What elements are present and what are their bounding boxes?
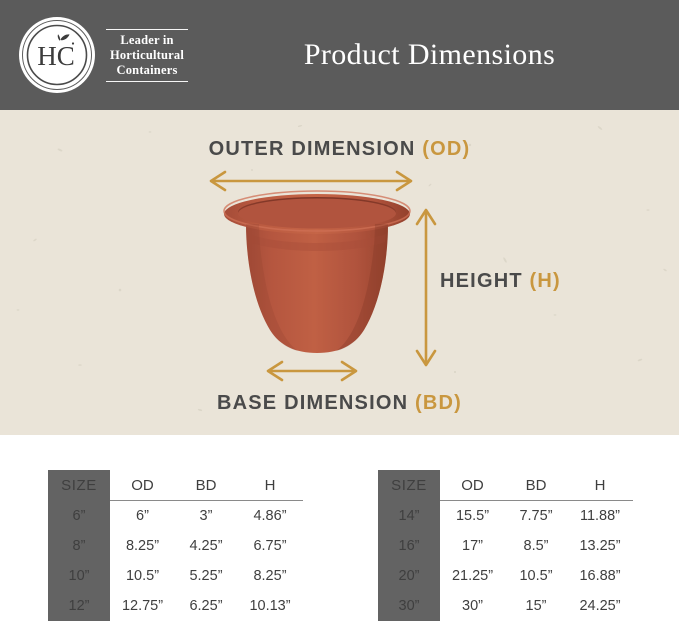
cell-bd: 8.5” bbox=[505, 531, 567, 561]
cell-h: 6.75” bbox=[237, 531, 303, 561]
table-row: 8” 8.25” 4.25” 6.75” bbox=[48, 531, 303, 561]
cell-od: 12.75” bbox=[110, 591, 175, 621]
cell-size: 12” bbox=[48, 591, 110, 621]
table-header-row: SIZE OD BD H bbox=[378, 470, 633, 500]
table-row: 6” 6” 3” 4.86” bbox=[48, 501, 303, 531]
cell-h: 24.25” bbox=[567, 591, 633, 621]
cell-size: 20” bbox=[378, 561, 440, 591]
outer-dimension-text: OUTER DIMENSION bbox=[209, 138, 416, 160]
cell-size: 8” bbox=[48, 531, 110, 561]
table-row: 16” 17” 8.5” 13.25” bbox=[378, 531, 633, 561]
table-row: 10” 10.5” 5.25” 8.25” bbox=[48, 561, 303, 591]
dimension-table-right: SIZE OD BD H 14” 15.5” 7.75” 11.88” 16” … bbox=[378, 470, 633, 621]
cell-size: 14” bbox=[378, 501, 440, 531]
cell-od: 15.5” bbox=[440, 501, 505, 531]
outer-dimension-label: OUTER DIMENSION (OD) bbox=[0, 138, 679, 161]
page-title: Product Dimensions bbox=[0, 0, 679, 110]
height-arrow-icon bbox=[415, 205, 437, 370]
height-code: (H) bbox=[530, 270, 561, 292]
cell-h: 10.13” bbox=[237, 591, 303, 621]
cell-od: 6” bbox=[110, 501, 175, 531]
table-row: 20” 21.25” 10.5” 16.88” bbox=[378, 561, 633, 591]
column-header-size: SIZE bbox=[378, 470, 440, 500]
cell-od: 8.25” bbox=[110, 531, 175, 561]
table-row: 12” 12.75” 6.25” 10.13” bbox=[48, 591, 303, 621]
cell-od: 21.25” bbox=[440, 561, 505, 591]
cell-size: 10” bbox=[48, 561, 110, 591]
cell-size: 30” bbox=[378, 591, 440, 621]
table-row: 14” 15.5” 7.75” 11.88” bbox=[378, 501, 633, 531]
dimension-tables: SIZE OD BD H 6” 6” 3” 4.86” 8” 8.25” 4.2… bbox=[0, 470, 679, 636]
cell-bd: 6.25” bbox=[175, 591, 237, 621]
height-label: HEIGHT (H) bbox=[440, 270, 561, 293]
column-header-h: H bbox=[567, 470, 633, 500]
cell-bd: 15” bbox=[505, 591, 567, 621]
cell-h: 4.86” bbox=[237, 501, 303, 531]
height-text: HEIGHT bbox=[440, 270, 523, 292]
cell-size: 16” bbox=[378, 531, 440, 561]
cell-od: 10.5” bbox=[110, 561, 175, 591]
table-row: 30” 30” 15” 24.25” bbox=[378, 591, 633, 621]
cell-bd: 3” bbox=[175, 501, 237, 531]
cell-h: 11.88” bbox=[567, 501, 633, 531]
base-dimension-text: BASE DIMENSION bbox=[217, 392, 408, 414]
cell-h: 16.88” bbox=[567, 561, 633, 591]
cell-size: 6” bbox=[48, 501, 110, 531]
cell-bd: 4.25” bbox=[175, 531, 237, 561]
cell-h: 8.25” bbox=[237, 561, 303, 591]
pot-rim-inner-face bbox=[238, 199, 396, 229]
column-header-bd: BD bbox=[175, 470, 237, 500]
column-header-h: H bbox=[237, 470, 303, 500]
cell-bd: 10.5” bbox=[505, 561, 567, 591]
base-dimension-label: BASE DIMENSION (BD) bbox=[0, 392, 679, 415]
cell-bd: 7.75” bbox=[505, 501, 567, 531]
column-header-od: OD bbox=[440, 470, 505, 500]
cell-bd: 5.25” bbox=[175, 561, 237, 591]
base-dimension-code: (BD) bbox=[415, 392, 462, 414]
outer-dimension-code: (OD) bbox=[422, 138, 470, 160]
cell-h: 13.25” bbox=[567, 531, 633, 561]
column-header-bd: BD bbox=[505, 470, 567, 500]
table-header-row: SIZE OD BD H bbox=[48, 470, 303, 500]
column-header-size: SIZE bbox=[48, 470, 110, 500]
planter-pot-illustration bbox=[222, 190, 412, 375]
outer-dimension-arrow-icon bbox=[205, 170, 417, 192]
column-header-od: OD bbox=[110, 470, 175, 500]
cell-od: 30” bbox=[440, 591, 505, 621]
cell-od: 17” bbox=[440, 531, 505, 561]
page-header: HC Leader in Horticultural Containers Pr… bbox=[0, 0, 679, 110]
dimension-table-left: SIZE OD BD H 6” 6” 3” 4.86” 8” 8.25” 4.2… bbox=[48, 470, 303, 621]
diagram-panel: OUTER DIMENSION (OD) HEIGHT (H) BASE DIM… bbox=[0, 110, 679, 435]
